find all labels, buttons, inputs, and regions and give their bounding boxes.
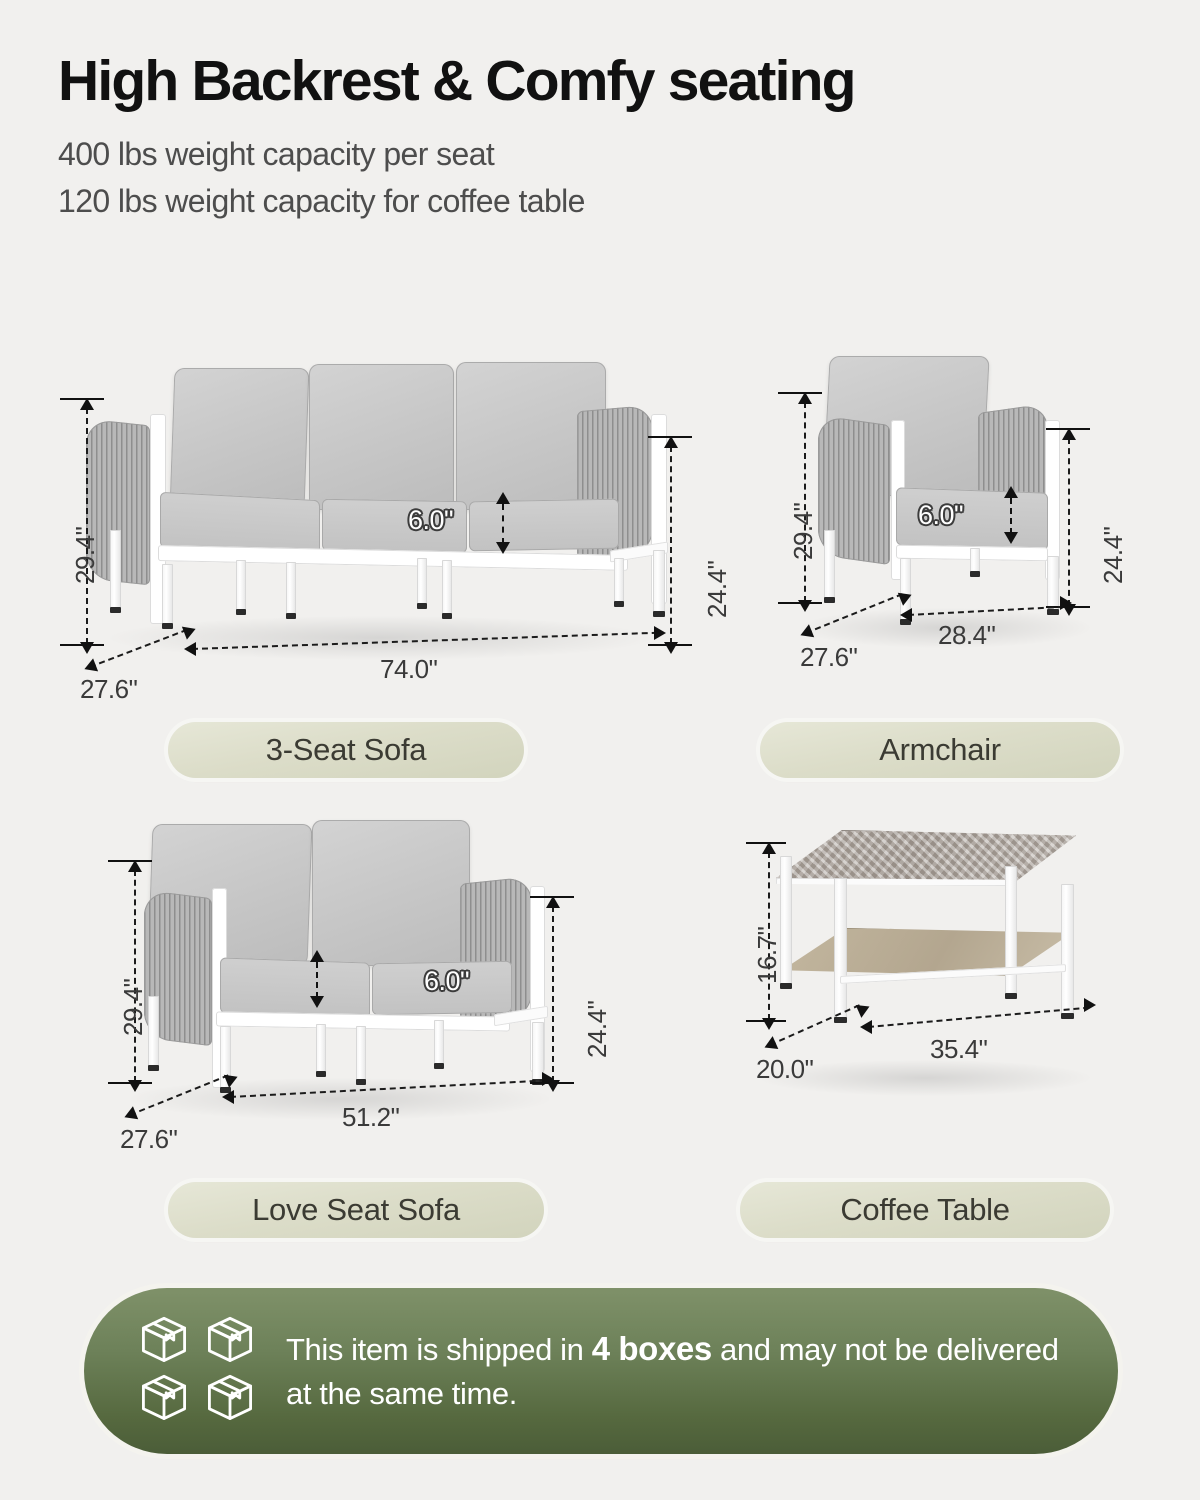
back-cushion-center [309, 364, 454, 510]
dimension-value-seat-thickness: 6.0" [408, 505, 453, 536]
product-cell-3-seat-sofa: 29.4" 24.4" 6.0" 27.6" [50, 350, 690, 770]
product-label-text: Love Seat Sofa [252, 1192, 460, 1228]
product-label-armchair[interactable]: Armchair [760, 722, 1120, 778]
table-top-edge [776, 878, 1076, 886]
dimension-value-arm-height: 24.4" [582, 1001, 613, 1058]
subtitle-seat-capacity: 400 lbs weight capacity per seat [58, 131, 1158, 177]
seat-cushion-left [220, 957, 370, 1018]
package-box-icon [136, 1314, 192, 1366]
shipping-text-before: This item is shipped in [286, 1332, 592, 1367]
dimension-value-seat-thickness: 6.0" [424, 966, 469, 997]
seat-cushion-right [469, 499, 619, 552]
table-top-surface [776, 830, 1076, 886]
dimension-value-back-height: 29.4" [118, 979, 149, 1036]
dimension-value-depth: 20.0" [756, 1054, 813, 1085]
dimension-value-width: 51.2" [342, 1102, 399, 1133]
leg-mid-1 [236, 560, 246, 610]
dimension-value-seat-thickness: 6.0" [918, 500, 963, 531]
product-label-text: 3-Seat Sofa [266, 732, 426, 768]
dimension-value-depth: 27.6" [120, 1124, 177, 1155]
leg-back-right [653, 550, 665, 612]
page-title: High Backrest & Comfy seating [58, 52, 1158, 111]
product-label-3-seat-sofa[interactable]: 3-Seat Sofa [168, 722, 524, 778]
header-block: High Backrest & Comfy seating 400 lbs we… [58, 52, 1158, 224]
dimension-width: 28.4" [896, 602, 1076, 652]
sofa-3seat-illustration [50, 350, 690, 670]
back-cushion-left [170, 368, 310, 508]
leg-back-left [824, 530, 835, 598]
product-cell-love-seat-sofa: 29.4" 24.4" 6.0" 27.6" [90, 810, 610, 1230]
table-leg-front-left [834, 878, 847, 1018]
leg-mid-4 [442, 560, 452, 614]
leg-center [970, 548, 980, 572]
dimension-width: 51.2" [218, 1080, 558, 1130]
leg-back-left [148, 996, 159, 1066]
leg-front-right [614, 558, 624, 602]
dimension-value-arm-height: 24.4" [1098, 527, 1129, 584]
subtitle-table-capacity: 120 lbs weight capacity for coffee table [58, 178, 1158, 224]
dimension-value-arm-height: 24.4" [702, 561, 733, 618]
back-cushion-right [312, 820, 470, 966]
product-label-love-seat-sofa[interactable]: Love Seat Sofa [168, 1182, 544, 1238]
product-cell-armchair: 29.4" 24.4" 6.0" 27.6" [760, 350, 1160, 770]
dimension-value-height: 16.7" [752, 927, 783, 984]
dimension-value-width: 35.4" [930, 1034, 987, 1065]
package-box-icon [202, 1372, 258, 1424]
dimension-width: 74.0" [180, 636, 670, 684]
dimension-value-width: 74.0" [380, 654, 437, 685]
shipping-notice-banner: This item is shipped in 4 boxes and may … [84, 1288, 1118, 1454]
package-box-icon-group [136, 1314, 262, 1428]
dimension-value-back-height: 29.4" [788, 503, 819, 560]
dimension-value-depth: 27.6" [80, 674, 137, 705]
shipping-notice-text: This item is shipped in 4 boxes and may … [286, 1326, 1086, 1417]
dimension-value-depth: 27.6" [800, 642, 857, 673]
package-box-icon [202, 1314, 258, 1366]
leg-mid-2 [286, 562, 296, 614]
package-box-icon [136, 1372, 192, 1424]
product-label-text: Coffee Table [840, 1192, 1009, 1228]
header-sublines: 400 lbs weight capacity per seat 120 lbs… [58, 131, 1158, 224]
leg-front-left [162, 564, 173, 624]
leg-mid-3 [434, 1020, 444, 1064]
table-leg-front-right [1061, 884, 1074, 1014]
product-label-text: Armchair [879, 732, 1001, 768]
product-cell-coffee-table: 16.7" 20.0" 35.4" Coffee Table [720, 810, 1140, 1230]
leg-mid-2 [356, 1026, 366, 1080]
leg-mid-3 [417, 558, 427, 604]
dimension-value-width: 28.4" [938, 620, 995, 651]
dimension-width: 35.4" [856, 1012, 1102, 1062]
dimension-value-back-height: 29.4" [70, 527, 101, 584]
product-label-coffee-table[interactable]: Coffee Table [740, 1182, 1110, 1238]
shipping-box-count: 4 boxes [592, 1330, 712, 1367]
leg-back-left [110, 530, 121, 608]
leg-mid-1 [316, 1024, 326, 1072]
